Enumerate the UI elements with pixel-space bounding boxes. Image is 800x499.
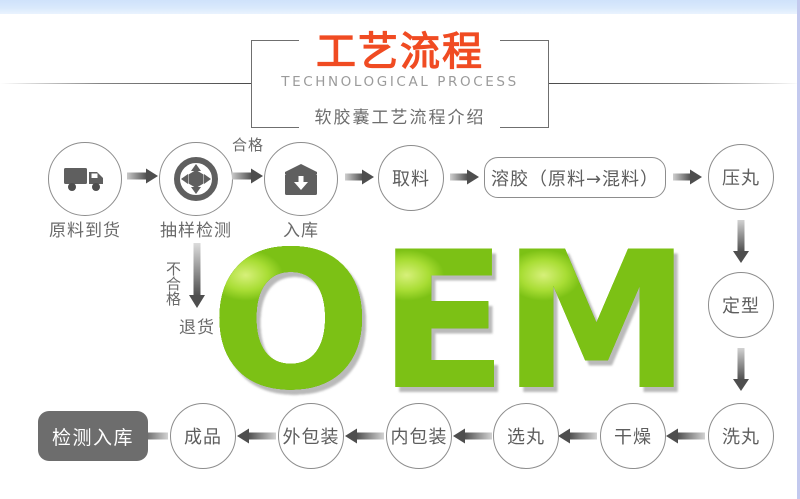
arrow-wash-to-drying bbox=[665, 427, 705, 445]
node-inspect-store[interactable]: 检测入库 bbox=[38, 411, 148, 461]
truck-icon bbox=[63, 164, 107, 194]
node-shaping[interactable]: 定型 bbox=[708, 272, 774, 338]
node-take-material[interactable]: 取料 bbox=[378, 145, 444, 211]
node-drying-label: 干燥 bbox=[614, 423, 652, 449]
arrow-outer-to-finished bbox=[236, 427, 276, 445]
node-take-material-label: 取料 bbox=[392, 165, 430, 191]
arrow-raw-to-sampling bbox=[127, 167, 159, 185]
node-wash-pill-label: 洗丸 bbox=[722, 423, 760, 449]
node-outer-pack-label: 外包装 bbox=[283, 423, 340, 449]
node-select-pill-label: 选丸 bbox=[507, 423, 545, 449]
arrow-sampling-to-warehouse bbox=[232, 167, 264, 185]
node-select-pill[interactable]: 选丸 bbox=[493, 403, 559, 469]
label-warehouse-in: 入库 bbox=[249, 216, 353, 241]
node-press-pill-label: 压丸 bbox=[722, 164, 760, 190]
arrow-warehouse-to-take bbox=[345, 168, 375, 186]
node-shaping-label: 定型 bbox=[722, 292, 760, 318]
header: 工艺流程 TECHNOLOGICAL PROCESS 软胶囊工艺流程介绍 bbox=[0, 14, 800, 122]
arrow-select-to-inner-pack bbox=[452, 427, 492, 445]
oem-watermark: O E M bbox=[210, 232, 700, 412]
edge-label-fail: 不合格 bbox=[163, 250, 184, 316]
top-blue-band bbox=[0, 0, 800, 14]
arrow-solgel-to-press bbox=[673, 168, 703, 186]
oem-letter-e: E bbox=[378, 232, 508, 412]
arrow-fail-to-return bbox=[188, 243, 206, 309]
arrow-drying-to-select bbox=[557, 427, 597, 445]
node-press-pill[interactable]: 压丸 bbox=[708, 144, 774, 210]
arrow-shaping-to-wash bbox=[732, 348, 750, 392]
node-inner-pack-label: 内包装 bbox=[391, 423, 448, 449]
subtitle-chinese: 软胶囊工艺流程介绍 bbox=[0, 107, 800, 129]
node-sol-gel-label: 溶胶（原料→混料） bbox=[491, 165, 659, 191]
node-sol-gel[interactable]: 溶胶（原料→混料） bbox=[484, 157, 666, 198]
node-outer-pack[interactable]: 外包装 bbox=[278, 403, 344, 469]
node-wash-pill[interactable]: 洗丸 bbox=[708, 403, 774, 469]
label-return-goods: 退货 bbox=[152, 313, 242, 338]
node-finished[interactable]: 成品 bbox=[170, 403, 236, 469]
arrow-take-to-solgel bbox=[450, 168, 480, 186]
node-finished-label: 成品 bbox=[184, 423, 222, 449]
node-raw-arrival[interactable] bbox=[48, 142, 122, 216]
node-inner-pack[interactable]: 内包装 bbox=[386, 403, 452, 469]
arrow-press-to-shaping bbox=[732, 220, 750, 264]
label-sampling-test: 抽样检测 bbox=[129, 216, 263, 241]
arrow-inner-to-outer-pack bbox=[344, 427, 384, 445]
node-drying[interactable]: 干燥 bbox=[600, 403, 666, 469]
node-warehouse-in[interactable] bbox=[264, 142, 338, 216]
subtitle-english: TECHNOLOGICAL PROCESS bbox=[0, 73, 800, 91]
process-flow-infographic: 工艺流程 TECHNOLOGICAL PROCESS 软胶囊工艺流程介绍 O E… bbox=[0, 0, 800, 499]
page-title: 工艺流程 bbox=[0, 30, 800, 74]
node-inspect-store-label: 检测入库 bbox=[52, 423, 134, 450]
edge-label-pass: 合格 bbox=[222, 134, 274, 155]
oem-letter-m: M bbox=[502, 232, 691, 412]
inbox-icon bbox=[281, 159, 321, 199]
sampling-icon bbox=[173, 156, 219, 202]
